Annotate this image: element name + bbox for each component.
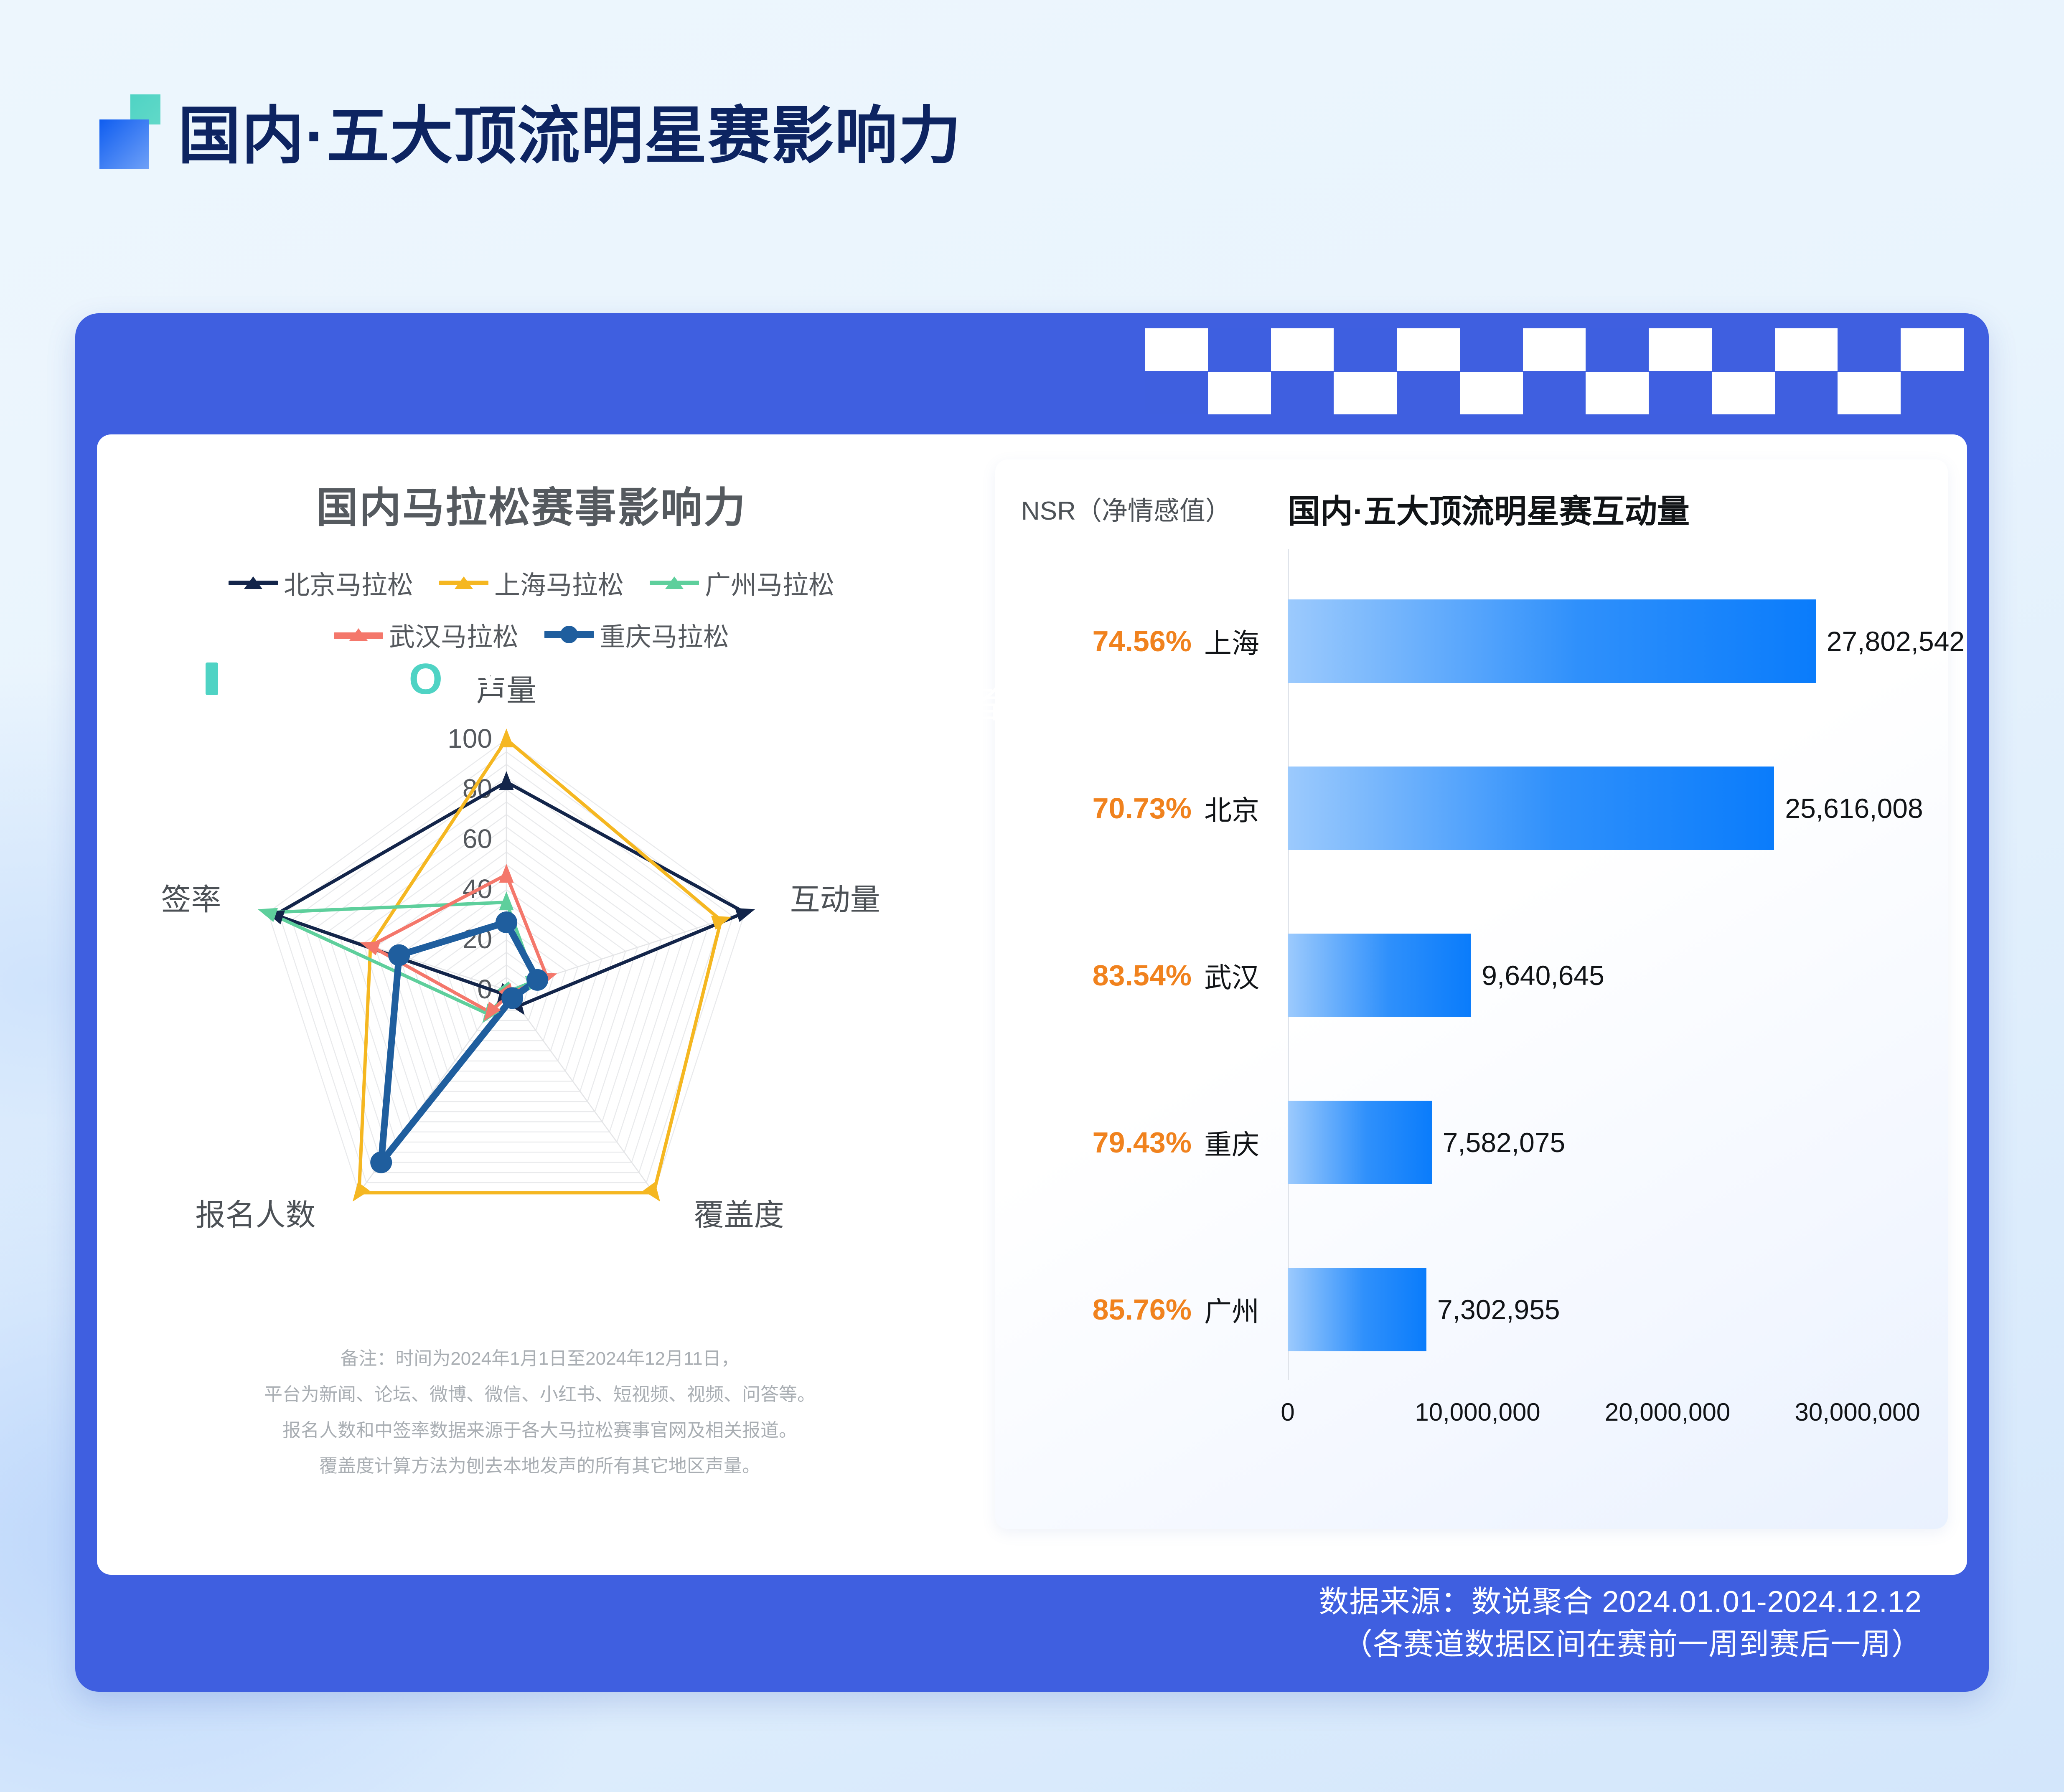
- page-title-row: 国内·五大顶流明星赛影响力: [76, 84, 962, 167]
- bar-category-label: 北京: [1204, 788, 1259, 828]
- legend-label: 重庆马拉松: [600, 616, 729, 653]
- flag-cell: [1208, 328, 1271, 371]
- flag-cell: [1271, 328, 1334, 371]
- legend-item-wuhan[interactable]: 武汉马拉松: [334, 616, 519, 653]
- flag-cell: [1649, 328, 1712, 371]
- footnote-line: 报名人数和中签率数据来源于各大马拉松赛事官网及相关报道。: [172, 1413, 907, 1449]
- svg-text:中签率: 中签率: [160, 883, 221, 917]
- flag-cell: [1145, 372, 1208, 414]
- footnote-line: 覆盖度计算方法为刨去本地发声的所有其它地区声量。: [172, 1448, 907, 1484]
- footnote-line: 平台为新闻、论坛、微博、微信、小红书、短视频、视频、问答等。: [172, 1377, 907, 1413]
- bar-rect[interactable]: [1288, 767, 1774, 850]
- footer-line-1: 数据来源：数说聚合 2024.01.01-2024.12.12: [1319, 1581, 1922, 1623]
- x-axis-tick-label: 20,000,000: [1605, 1398, 1730, 1426]
- bar-category-label: 武汉: [1204, 955, 1259, 995]
- radar-legend: 北京马拉松 上海马拉松: [97, 564, 966, 668]
- flag-cell: [1523, 328, 1586, 371]
- nsr-value: 83.54%: [1012, 959, 1192, 992]
- bar-value-label: 27,802,542: [1827, 625, 1965, 657]
- legend-swatch-triangle-icon: [650, 574, 699, 591]
- nsr-column-label: NSR（净情感值）: [1021, 490, 1231, 527]
- main-card: 国内马拉松赛事影响力 北京马拉松: [75, 313, 1989, 1692]
- legend-label: 北京马拉松: [284, 564, 413, 602]
- legend-label: 广州马拉松: [705, 564, 834, 602]
- bar-rect[interactable]: [1288, 934, 1471, 1017]
- flag-cell: [1397, 372, 1460, 414]
- radar-panel: 国内马拉松赛事影响力 北京马拉松: [97, 434, 966, 1575]
- flag-cell: [1460, 372, 1523, 414]
- legend-item-beijing[interactable]: 北京马拉松: [229, 564, 413, 602]
- radar-chart: 020406080100声量互动量覆盖度报名人数中签率: [160, 660, 903, 1320]
- flag-cell: [1586, 372, 1649, 414]
- bar-category-label: 广州: [1204, 1289, 1259, 1330]
- content-panel: 国内马拉松赛事影响力 北京马拉松: [97, 434, 1967, 1575]
- radar-footnotes: 备注：时间为2024年1月1日至2024年12月11日， 平台为新闻、论坛、微博…: [172, 1341, 907, 1484]
- flag-cell: [1712, 328, 1775, 371]
- logo-square-blue-icon: [99, 119, 149, 169]
- footnote-line: 备注：时间为2024年1月1日至2024年12月11日，: [172, 1341, 907, 1377]
- bar-category-label: 上海: [1204, 621, 1259, 661]
- flag-cell: [1901, 372, 1964, 414]
- datastory-glyph-icon: [179, 657, 222, 703]
- flag-cell: [1586, 328, 1649, 371]
- bar-value-label: 7,302,955: [1437, 1294, 1560, 1325]
- bar-value-label: 7,582,075: [1443, 1127, 1566, 1158]
- radar-chart-svg: 020406080100声量互动量覆盖度报名人数中签率: [160, 660, 903, 1320]
- bar-row[interactable]: 74.56%上海27,802,542: [995, 551, 1948, 731]
- bar-x-axis: 010,000,00020,000,00030,000,000: [1288, 1387, 1914, 1437]
- flag-cell: [1901, 328, 1964, 371]
- flag-cell: [1775, 328, 1838, 371]
- datastory-logo: DATASTORY数说故事: [179, 657, 506, 744]
- footer-line-2: （各赛道数据区间在赛前一周到赛后一周）: [1319, 1623, 1922, 1666]
- poster-root: 国内·五大顶流明星赛影响力 国内马拉松赛事影响力: [0, 0, 2064, 1792]
- legend-swatch-circle-icon: [544, 626, 594, 643]
- legend-swatch-triangle-icon: [229, 574, 278, 591]
- flag-cell: [1838, 328, 1901, 371]
- nsr-value: 74.56%: [1012, 624, 1192, 658]
- flag-cell: [1775, 372, 1838, 414]
- svg-text:互动量: 互动量: [790, 883, 880, 917]
- bar-rect[interactable]: [1288, 1268, 1426, 1351]
- nsr-value: 85.76%: [1012, 1293, 1192, 1326]
- bar-panel: NSR（净情感值） 国内·五大顶流明星赛互动量 74.56%上海27,802,5…: [995, 459, 1948, 1529]
- bar-value-label: 25,616,008: [1785, 792, 1923, 824]
- page-title: 国内·五大顶流明星赛影响力: [178, 104, 962, 167]
- logo-wordmark: DATASTORY: [230, 659, 506, 700]
- bar-row[interactable]: 79.43%重庆7,582,075: [995, 1053, 1948, 1232]
- bar-value-label: 9,640,645: [1482, 959, 1604, 991]
- legend-swatch-triangle-icon: [334, 626, 383, 643]
- nsr-value: 79.43%: [1012, 1126, 1192, 1159]
- flag-cell: [1460, 328, 1523, 371]
- flag-cell: [1838, 372, 1901, 414]
- flag-cell: [1271, 372, 1334, 414]
- bar-rect[interactable]: [1288, 599, 1816, 683]
- legend-label: 武汉马拉松: [389, 616, 519, 653]
- x-axis-tick-label: 30,000,000: [1795, 1398, 1920, 1426]
- bar-plot-area: 74.56%上海27,802,54270.73%北京25,616,00883.5…: [995, 543, 1948, 1441]
- bar-row[interactable]: 83.54%武汉9,640,645: [995, 886, 1948, 1065]
- flag-cell: [1712, 372, 1775, 414]
- checkered-flag-decoration: [1145, 328, 1964, 416]
- legend-label: 上海马拉松: [494, 564, 624, 602]
- bar-chart-title: 国内·五大顶流明星赛互动量: [1288, 485, 1690, 532]
- legend-item-shanghai[interactable]: 上海马拉松: [439, 564, 624, 602]
- nsr-value: 70.73%: [1012, 792, 1192, 825]
- svg-text:60: 60: [463, 824, 492, 854]
- flag-cell: [1523, 372, 1586, 414]
- logo-chinese-name: 数说故事: [230, 708, 387, 744]
- legend-swatch-triangle-icon: [439, 574, 488, 591]
- footer-source: 数据来源：数说聚合 2024.01.01-2024.12.12 （各赛道数据区间…: [1319, 1581, 1922, 1666]
- bar-row[interactable]: 70.73%北京25,616,008: [995, 718, 1948, 898]
- flag-cell: [1145, 328, 1208, 371]
- brand-divider: [544, 664, 546, 737]
- brand-bar: DATASTORY数说故事社媒营销数智化领跑者: [179, 657, 1007, 744]
- bar-category-label: 重庆: [1204, 1122, 1259, 1163]
- svg-text:覆盖度: 覆盖度: [694, 1198, 784, 1232]
- flag-cell: [1397, 328, 1460, 371]
- x-axis-tick-label: 10,000,000: [1415, 1398, 1540, 1426]
- bar-panel-header: NSR（净情感值） 国内·五大顶流明星赛互动量: [995, 485, 1948, 548]
- flag-cell: [1334, 372, 1397, 414]
- bar-rect[interactable]: [1288, 1101, 1432, 1184]
- squares-logo-icon: [76, 84, 164, 167]
- flag-cell: [1649, 372, 1712, 414]
- legend-item-guangzhou[interactable]: 广州马拉松: [650, 564, 834, 602]
- flag-cell: [1208, 372, 1271, 414]
- x-axis-tick-label: 0: [1281, 1398, 1294, 1426]
- radar-chart-title: 国内马拉松赛事影响力: [97, 474, 966, 534]
- svg-text:报名人数: 报名人数: [195, 1198, 315, 1232]
- brand-tagline: 社媒营销数智化领跑者: [576, 672, 1007, 729]
- flag-cell: [1334, 328, 1397, 371]
- bar-row[interactable]: 85.76%广州7,302,955: [995, 1220, 1948, 1399]
- legend-item-chongqing[interactable]: 重庆马拉松: [544, 616, 729, 653]
